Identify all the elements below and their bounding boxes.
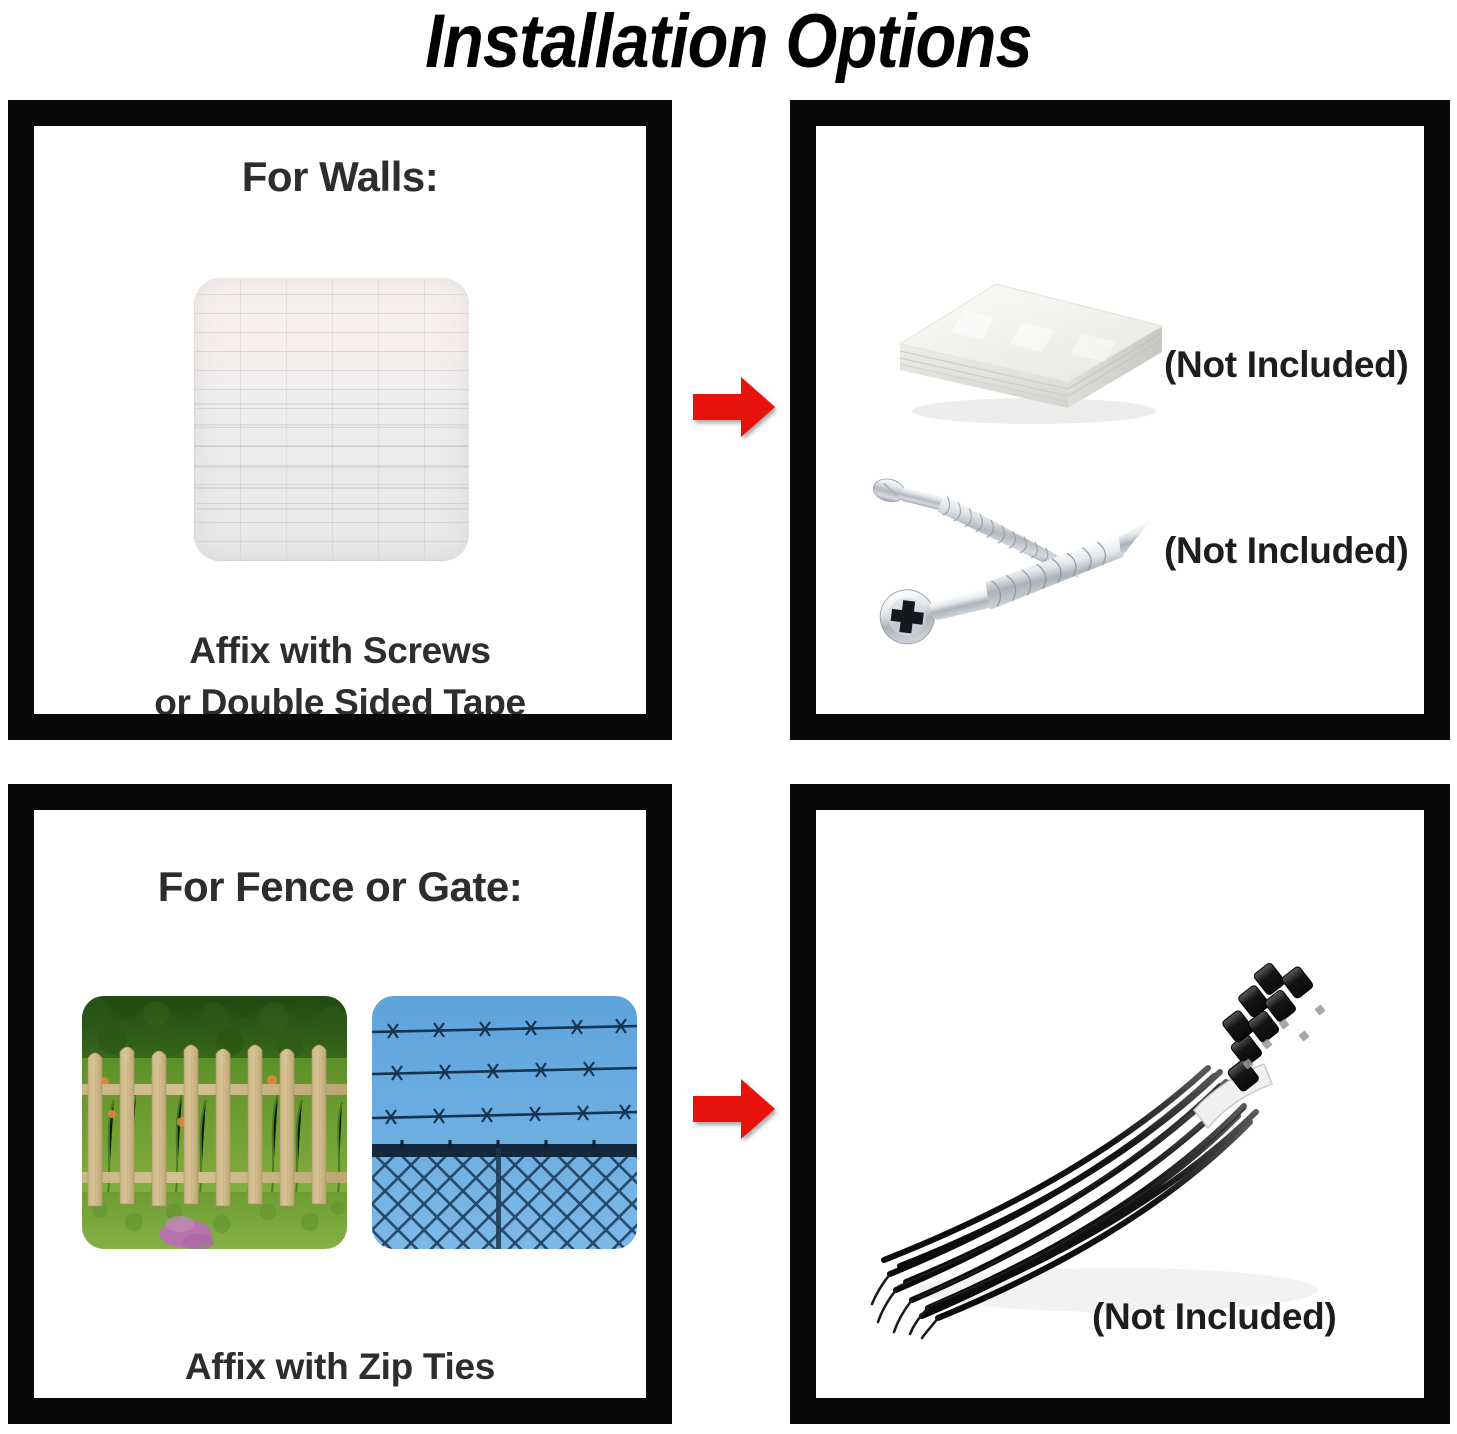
panel-for-walls-caption-line1: Affix with Screws [34, 626, 646, 676]
installation-options-infographic: Installation Options For Walls: Affix wi… [0, 0, 1457, 1434]
screws-not-included-label: (Not Included) [1164, 528, 1408, 574]
tape-not-included-label: (Not Included) [1164, 342, 1408, 388]
white-brick-wall-photo [194, 278, 469, 561]
right-arrow-icon-top [691, 374, 777, 440]
panel-for-fence-or-gate-inner: For Fence or Gate: [34, 810, 646, 1398]
panel-for-fence-caption: Affix with Zip Ties [34, 1342, 646, 1392]
panel-for-fence-or-gate: For Fence or Gate: [8, 784, 672, 1424]
wooden-picket-fence-photo [82, 996, 347, 1249]
panel-zip-ties-hardware-inner: (Not Included) [816, 810, 1424, 1398]
page-title: Installation Options [87, 0, 1369, 88]
panel-wall-hardware: (Not Included) [790, 100, 1450, 740]
panel-wall-hardware-inner: (Not Included) [816, 126, 1424, 714]
panel-for-fence-heading: For Fence or Gate: [34, 862, 646, 912]
zip-ties-not-included-label: (Not Included) [1092, 1294, 1336, 1340]
panel-for-walls-inner: For Walls: Affix with Screws or Double S… [34, 126, 646, 714]
phillips-wood-screws-icon [844, 456, 1194, 646]
right-arrow-icon-bottom [691, 1076, 777, 1142]
panel-for-walls-caption-line2: or Double Sided Tape [34, 678, 646, 714]
chain-link-barbed-wire-fence-photo [372, 996, 637, 1249]
panel-for-walls-heading: For Walls: [34, 152, 646, 202]
black-zip-ties-bundle-icon [868, 960, 1368, 1340]
double-sided-tape-stack-icon [886, 248, 1176, 433]
panel-for-walls: For Walls: Affix with Screws or Double S… [8, 100, 672, 740]
panel-zip-ties-hardware: (Not Included) [790, 784, 1450, 1424]
